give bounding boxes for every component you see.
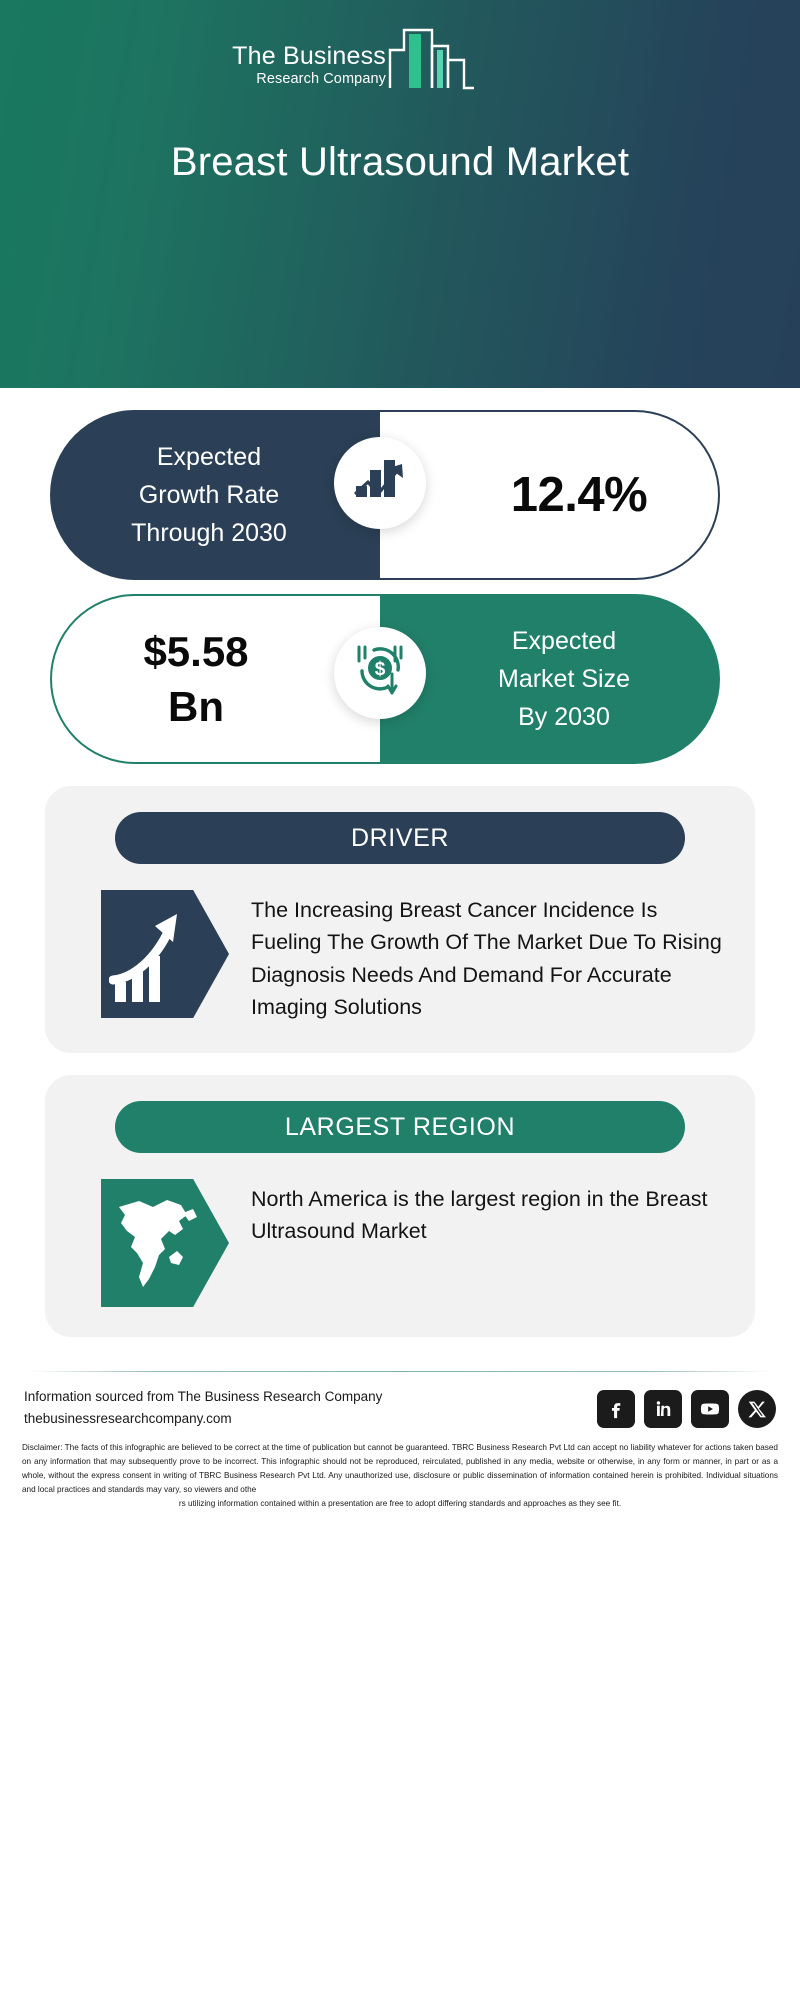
dollar-cycle-icon-badge: $ (334, 627, 426, 719)
panel-largest-region-text: North America is the largest region in t… (251, 1179, 725, 1307)
panel-driver: DRIVER The Increasing Breast Cancer Inci… (45, 786, 755, 1053)
growth-rate-label-line-2: Growth Rate (139, 476, 279, 514)
panel-largest-region-body: North America is the largest region in t… (45, 1153, 755, 1307)
disclaimer-text-last-line: rs utilizing information contained withi… (22, 1497, 778, 1511)
panel-driver-text: The Increasing Breast Cancer Incidence I… (251, 890, 725, 1023)
bar-chart-logo-mark-icon (388, 24, 476, 101)
header-banner: The Business Research Company Breast Ult… (0, 0, 800, 388)
arrow-bars-glyph (109, 902, 193, 1011)
dollar-cycle-icon: $ (352, 644, 408, 703)
north-america-map-icon (101, 1179, 229, 1307)
logo-line-2: Research Company (218, 72, 386, 87)
footer-source-line-1: Information sourced from The Business Re… (24, 1386, 382, 1408)
disclaimer: Disclaimer: The facts of this infographi… (0, 1431, 800, 1512)
linkedin-icon[interactable] (644, 1390, 682, 1428)
page-title: Breast Ultrasound Market (0, 140, 800, 185)
footer-source: Information sourced from The Business Re… (24, 1386, 382, 1431)
facebook-icon[interactable] (597, 1390, 635, 1428)
market-size-value-line-2: Bn (168, 679, 224, 734)
north-america-map-glyph (109, 1191, 201, 1300)
stat-cards: Expected Growth Rate Through 2030 12.4% … (0, 388, 800, 768)
youtube-icon[interactable] (691, 1390, 729, 1428)
growth-chart-icon (354, 456, 406, 511)
social-links (597, 1386, 776, 1428)
panel-largest-region-title: LARGEST REGION (115, 1101, 685, 1153)
growth-chart-icon-badge (334, 437, 426, 529)
growth-rate-label-line-1: Expected (157, 438, 261, 476)
growth-rate-label: Expected Growth Rate Through 2030 (50, 410, 380, 580)
market-size-label: Expected Market Size By 2030 (380, 594, 720, 764)
stat-card-market-size: $5.58 Bn Expected Market Size By 2030 $ (0, 578, 800, 768)
logo-line-1: The Business (218, 44, 386, 69)
growth-rate-value-container: 12.4% (380, 410, 720, 580)
panel-driver-body: The Increasing Breast Cancer Incidence I… (45, 864, 755, 1023)
company-logo: The Business Research Company (218, 18, 478, 96)
market-size-label-line-3: By 2030 (518, 698, 610, 736)
market-size-label-line-1: Expected (512, 622, 616, 660)
footer-source-line-2[interactable]: thebusinessresearchcompany.com (24, 1408, 382, 1430)
disclaimer-text: Disclaimer: The facts of this infographi… (22, 1443, 778, 1494)
logo-text: The Business Research Company (218, 44, 386, 87)
x-twitter-icon[interactable] (738, 1390, 776, 1428)
market-size-value-container: $5.58 Bn (50, 594, 380, 764)
growth-rate-value: 12.4% (511, 467, 647, 523)
panel-driver-title: DRIVER (115, 812, 685, 864)
market-size-label-line-2: Market Size (498, 660, 630, 698)
svg-text:$: $ (375, 659, 386, 680)
market-size-value-line-1: $5.58 (143, 624, 248, 679)
stat-card-growth-rate: Expected Growth Rate Through 2030 12.4% (0, 388, 800, 578)
growth-arrow-bars-icon (101, 890, 229, 1018)
panel-largest-region: LARGEST REGION North America is the larg… (45, 1075, 755, 1337)
footer: Information sourced from The Business Re… (0, 1372, 800, 1431)
growth-rate-label-line-3: Through 2030 (131, 514, 287, 552)
